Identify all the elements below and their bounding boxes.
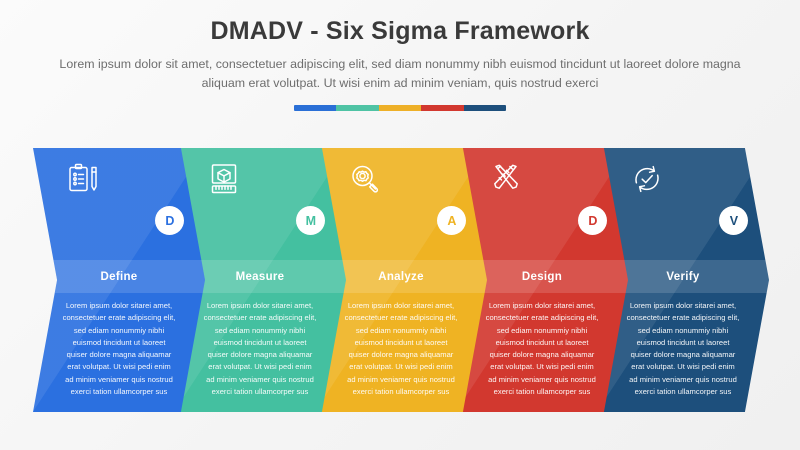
step-description-verify: Lorem ipsum dolor sitarei amet, consecte… xyxy=(626,300,740,398)
pencil-ruler-cross-icon xyxy=(489,162,523,196)
step-label-band-define: Define xyxy=(33,260,205,293)
step-label-verify: Verify xyxy=(666,271,699,283)
step-badge-letter: D xyxy=(588,214,597,228)
infographic-canvas: DMADV - Six Sigma Framework Lorem ipsum … xyxy=(0,0,800,450)
cube-ruler-icon xyxy=(207,162,241,196)
chevron-steps-row: DDefineLorem ipsum dolor sitarei amet, c… xyxy=(0,148,800,416)
accent-bar-segment-3 xyxy=(379,105,421,111)
step-badge-define: D xyxy=(155,206,184,235)
step-description-define: Lorem ipsum dolor sitarei amet, consecte… xyxy=(62,300,176,398)
step-badge-letter: M xyxy=(306,214,316,228)
chevron-step-define[interactable]: DDefineLorem ipsum dolor sitarei amet, c… xyxy=(33,148,205,412)
refresh-check-icon xyxy=(630,162,664,196)
step-badge-analyze: A xyxy=(437,206,466,235)
step-label-define: Define xyxy=(101,271,138,283)
step-badge-letter: D xyxy=(165,214,174,228)
page-title: DMADV - Six Sigma Framework xyxy=(0,0,800,46)
step-label-measure: Measure xyxy=(236,271,285,283)
step-description-design: Lorem ipsum dolor sitarei amet, consecte… xyxy=(485,300,599,398)
step-label-design: Design xyxy=(522,271,562,283)
step-badge-verify: V xyxy=(719,206,748,235)
step-description-analyze: Lorem ipsum dolor sitarei amet, consecte… xyxy=(344,300,458,398)
step-badge-letter: A xyxy=(447,214,456,228)
accent-color-bar xyxy=(294,105,506,111)
clipboard-checklist-pencil-icon xyxy=(66,162,100,196)
step-badge-letter: V xyxy=(730,214,738,228)
step-badge-measure: M xyxy=(296,206,325,235)
accent-bar-segment-5 xyxy=(464,105,506,111)
accent-bar-segment-1 xyxy=(294,105,336,111)
step-description-measure: Lorem ipsum dolor sitarei amet, consecte… xyxy=(203,300,317,398)
page-subtitle: Lorem ipsum dolor sit amet, consectetuer… xyxy=(50,55,750,93)
magnifier-gear-icon xyxy=(348,162,382,196)
header: DMADV - Six Sigma Framework Lorem ipsum … xyxy=(0,0,800,111)
accent-bar-segment-4 xyxy=(421,105,463,111)
step-label-analyze: Analyze xyxy=(378,271,424,283)
step-badge-design: D xyxy=(578,206,607,235)
accent-bar-segment-2 xyxy=(336,105,378,111)
